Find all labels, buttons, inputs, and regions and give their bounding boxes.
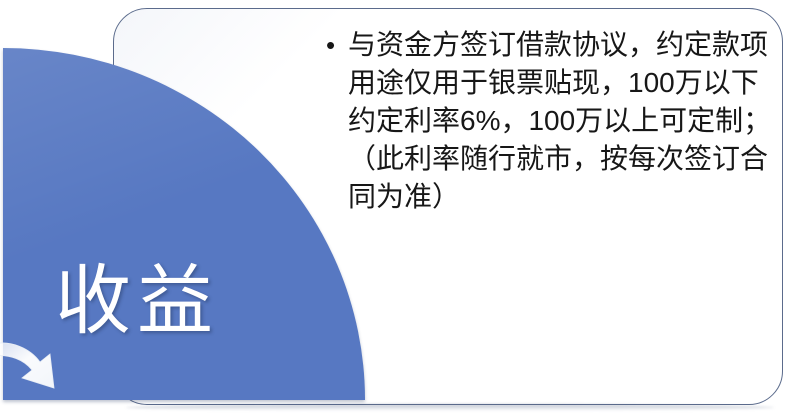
panel-drop-shadow bbox=[126, 404, 774, 411]
bullet-marker-icon: • bbox=[326, 26, 348, 64]
shape-label-revenue: 收益 bbox=[55, 264, 219, 340]
list-item: • 与资金方签订借款协议，约定款项用途仅用于银票贴现，100万以下约定利率6%，… bbox=[326, 26, 778, 216]
bullet-item-text: 与资金方签订借款协议，约定款项用途仅用于银票贴现，100万以下约定利率6%，10… bbox=[348, 26, 778, 216]
curved-down-right-arrow-icon bbox=[0, 330, 88, 402]
bullet-list: • 与资金方签订借款协议，约定款项用途仅用于银票贴现，100万以下约定利率6%，… bbox=[326, 26, 778, 216]
slide-canvas: 收益 • 与资金方签订借款协议，约定款项用途仅用于银票贴现，100万以下约定利率… bbox=[0, 0, 800, 413]
